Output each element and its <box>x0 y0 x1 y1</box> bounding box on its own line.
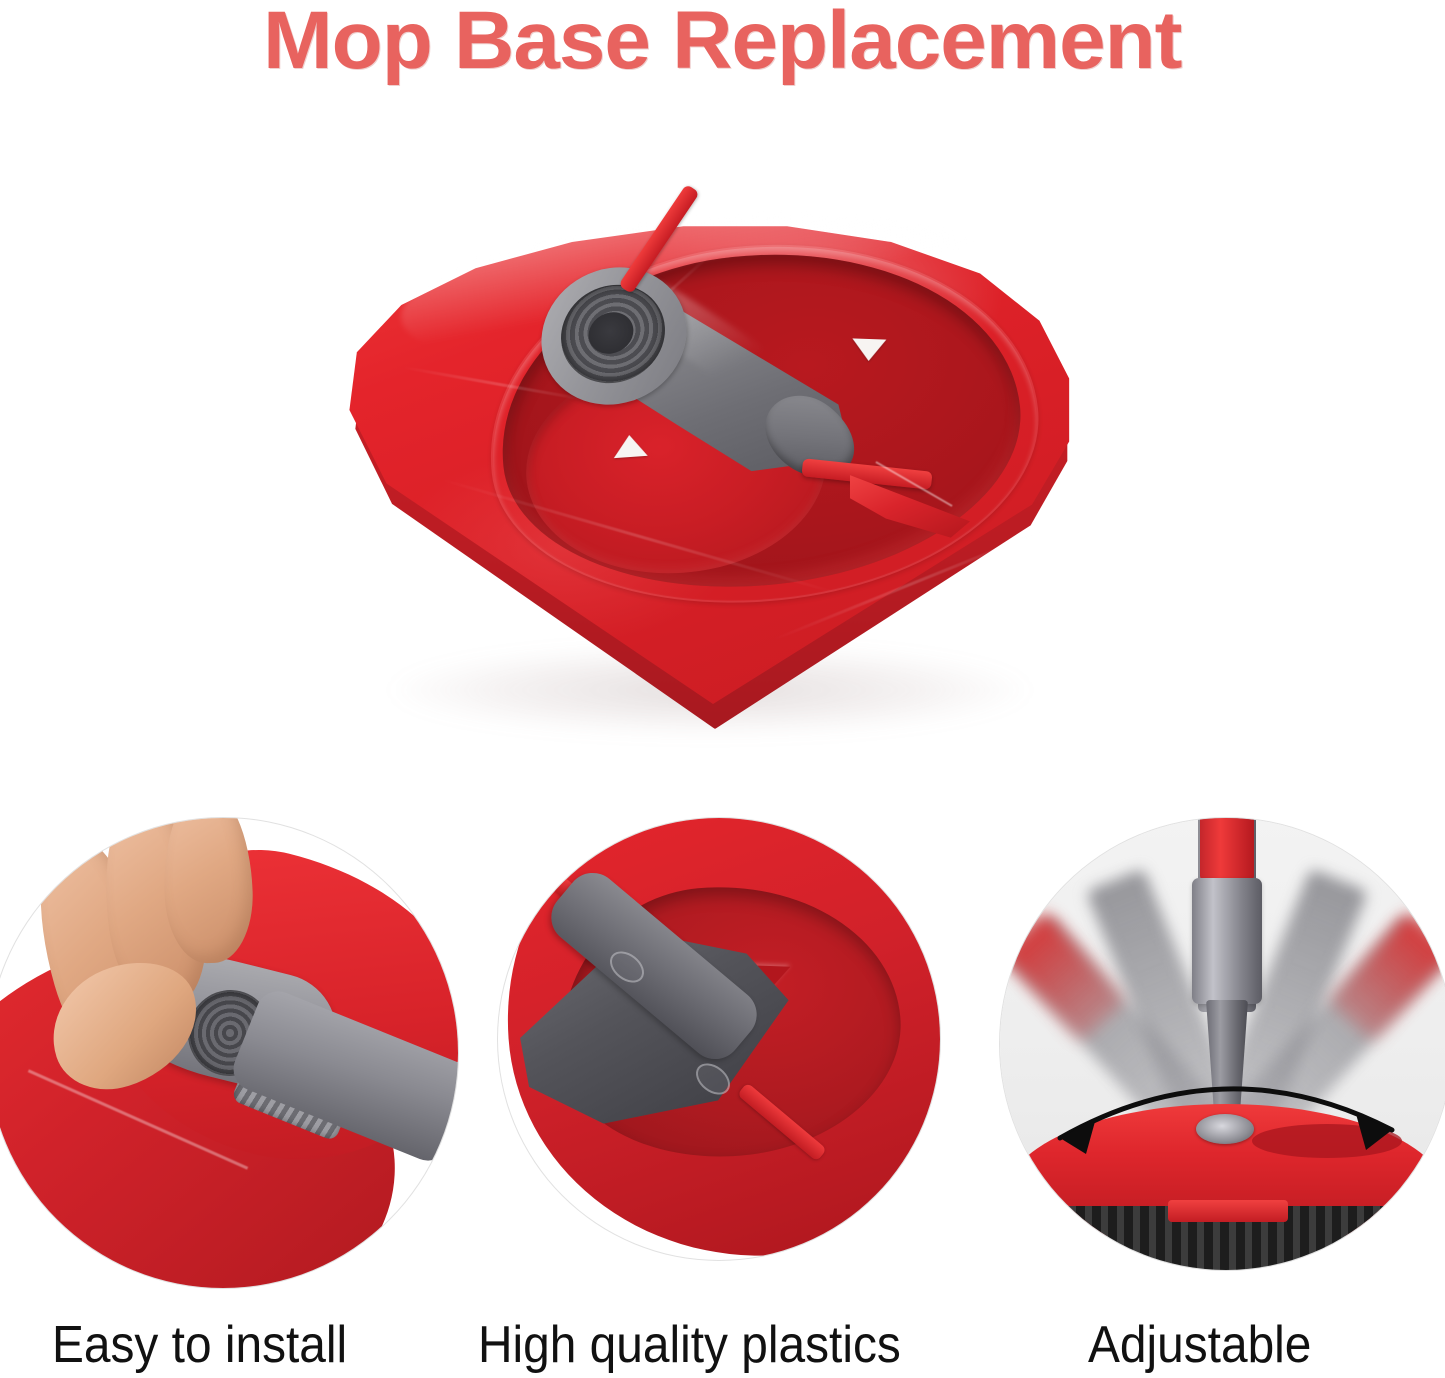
swivel-connector <box>526 253 886 563</box>
inset-content <box>0 818 458 1288</box>
title-band: Mop Base Replacement <box>0 0 1445 82</box>
hero-product-image <box>330 175 1100 755</box>
feature-caption-high-quality-plastics: High quality plastics <box>478 1316 901 1374</box>
page-title: Mop Base Replacement <box>263 0 1182 82</box>
inset-content <box>498 818 940 1260</box>
product-marketing-image: Mop Base Replacement <box>0 0 1445 1378</box>
feature-caption-easy-to-install: Easy to install <box>52 1316 347 1374</box>
mop-pole-red-section <box>1200 818 1254 880</box>
feature-image-high-quality-plastics <box>498 818 940 1260</box>
feature-image-easy-to-install <box>0 818 458 1288</box>
swivel-hub <box>1196 1114 1254 1144</box>
inset-content <box>1000 818 1445 1270</box>
mop-base-body <box>330 175 1100 755</box>
feature-caption-adjustable: Adjustable <box>1088 1316 1311 1374</box>
feature-image-adjustable <box>1000 818 1445 1270</box>
mop-head-recess <box>1252 1124 1402 1158</box>
feature-captions: Easy to install High quality plastics Ad… <box>0 1314 1445 1378</box>
pole-collar <box>1192 878 1262 1004</box>
brush-retainer-bar <box>1168 1200 1288 1222</box>
